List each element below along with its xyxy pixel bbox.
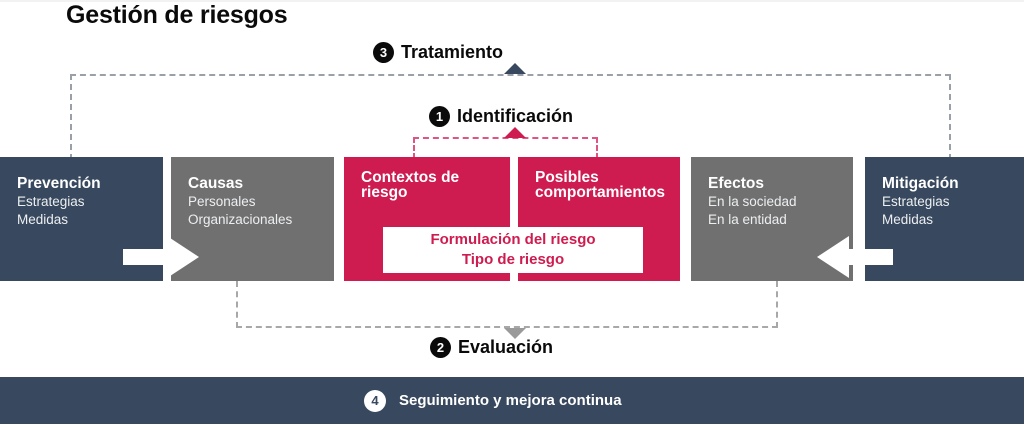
step-text-identificacion: Identificación xyxy=(457,106,573,127)
formulation-line-2: Tipo de riesgo xyxy=(462,250,564,270)
stage-title-efectos: Efectos xyxy=(708,175,764,192)
step-label-identificacion: 1 Identificación xyxy=(429,106,573,127)
flow-arrow-left-icon xyxy=(817,236,893,278)
step-text-tratamiento: Tratamiento xyxy=(401,42,503,63)
identification-loop-connector xyxy=(413,137,598,159)
step-badge-1: 1 xyxy=(429,106,450,127)
step-text-evaluacion: Evaluación xyxy=(458,337,553,358)
stage-subtitle-mitigacion: Estrategias Medidas xyxy=(882,193,950,228)
step-label-evaluacion: 2 Evaluación xyxy=(430,337,553,358)
stage-title-contextos: Contextos de riesgo xyxy=(361,170,459,200)
step-badge-2: 2 xyxy=(430,337,451,358)
formulation-line-1: Formulación del riesgo xyxy=(430,230,595,250)
flow-arrow-right-icon xyxy=(123,236,199,278)
risk-management-diagram: Gestión de riesgos Prevención Estrategia… xyxy=(0,0,1024,426)
stage-subtitle-efectos: En la sociedad En la entidad xyxy=(708,193,797,228)
evaluation-loop-connector xyxy=(236,281,778,328)
stage-title-causas: Causas xyxy=(188,175,243,192)
treatment-arrowhead-icon xyxy=(504,63,526,74)
footer-bar-seguimiento[interactable]: 4 Seguimiento y mejora continua xyxy=(0,377,1024,424)
stage-title-prevencion: Prevención xyxy=(17,175,101,192)
formulation-panel: Formulación del riesgo Tipo de riesgo xyxy=(383,227,643,273)
step-badge-4: 4 xyxy=(364,390,386,412)
stage-subtitle-causas: Personales Organizacionales xyxy=(188,193,292,228)
identification-arrowhead-icon xyxy=(504,127,526,138)
stage-title-posibles: Posibles comportamientos xyxy=(535,170,665,200)
step-badge-3: 3 xyxy=(373,42,394,63)
page-title: Gestión de riesgos xyxy=(66,1,287,30)
stage-subtitle-prevencion: Estrategias Medidas xyxy=(17,193,85,228)
stage-title-mitigacion: Mitigación xyxy=(882,175,959,192)
step-label-tratamiento: 3 Tratamiento xyxy=(373,42,503,63)
footer-label: Seguimiento y mejora continua xyxy=(399,392,622,409)
